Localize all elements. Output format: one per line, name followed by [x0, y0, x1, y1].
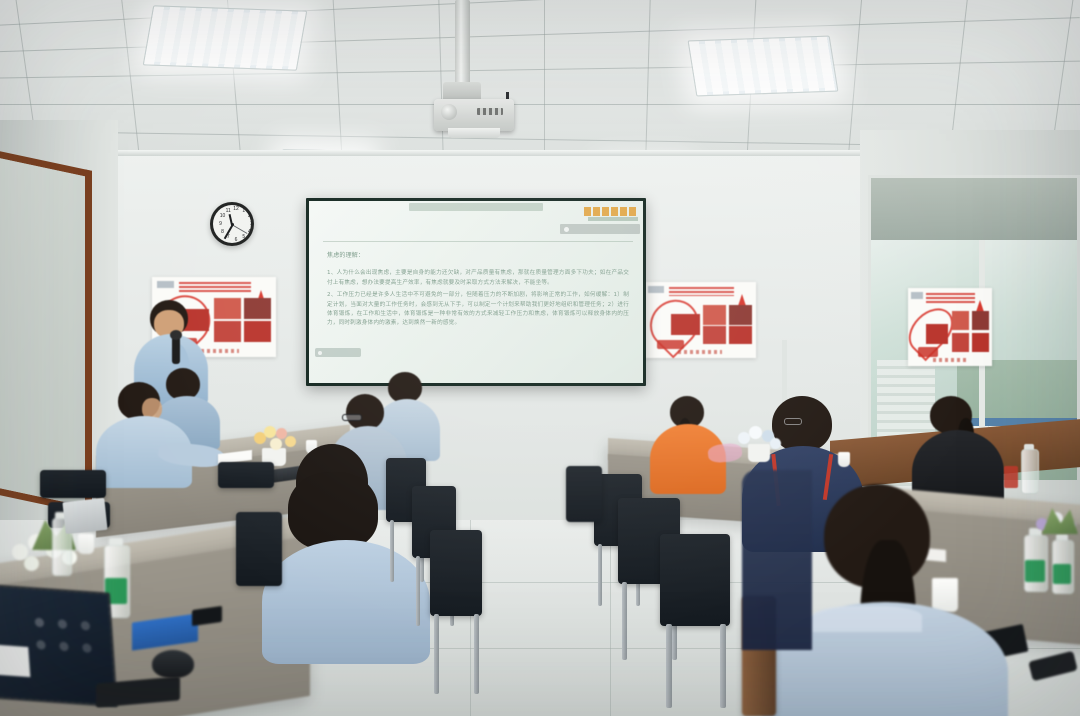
chair-backrest [430, 530, 482, 616]
collar [812, 606, 922, 632]
wireless-mouse[interactable] [152, 650, 194, 678]
bottle-label [1053, 564, 1071, 584]
water-bottle-right-rear [1020, 444, 1038, 492]
poster-photo [729, 326, 751, 344]
flower [24, 556, 39, 571]
chair-leg [474, 614, 479, 694]
flower [264, 426, 276, 438]
poster-headline [179, 282, 251, 292]
clock-numeral: 10 [219, 213, 227, 219]
chair-backrest [40, 470, 106, 498]
clock-center-pin [231, 223, 234, 226]
poster-photo [729, 305, 751, 325]
projection-screen-surface: 焦虑的理解： 1、人为什么会出现焦虑，主要是自身的能力还欠缺，对产品质量有焦虑，… [309, 201, 643, 383]
poster-logo [911, 292, 923, 299]
chair-leg [416, 556, 420, 626]
light-panel-back-right [688, 36, 839, 97]
poster-slogan [657, 340, 684, 349]
flowers-white-blue [736, 424, 782, 450]
projection-screen: 焦虑的理解： 1、人为什么会出现焦虑，主要是自身的能力还欠缺，对产品质量有焦虑，… [306, 198, 646, 386]
poster-photo [972, 311, 990, 330]
projector-front-foot [448, 128, 500, 138]
poster-footer [678, 350, 723, 354]
red-object-right [1004, 466, 1018, 488]
bottle-label [1025, 560, 1045, 582]
light-panel-back-left [143, 5, 308, 70]
flower-vase-right [1032, 508, 1080, 560]
flowers-pink-yellow [252, 424, 298, 452]
chair-leg [598, 544, 602, 606]
flower [749, 426, 762, 439]
poster-photo [703, 326, 725, 344]
poster-photo [244, 321, 271, 342]
poster-photo [703, 305, 725, 325]
laptop-dialog [0, 644, 30, 677]
slide-paragraph-2: 2、工作压力已经是许多人生活中不可避免的一部分，但随着压力的不断加剧，将影响正常… [327, 291, 629, 329]
clock-numeral: 5 [240, 234, 248, 240]
laptop-rear-silver[interactable] [62, 498, 107, 534]
window-left-wall [0, 149, 92, 515]
poster-photo [952, 333, 970, 352]
poster-logo [157, 281, 174, 288]
slide-divider [323, 241, 633, 242]
clock-numeral: 9 [217, 221, 225, 227]
poster-photo [952, 311, 970, 330]
slide-company-subtitle [588, 217, 638, 221]
poster-photo [671, 314, 700, 335]
slide-title: 焦虑的理解： [327, 251, 629, 260]
poster-headline [669, 287, 734, 297]
projector-ports [477, 108, 503, 115]
chair-leg [666, 624, 672, 708]
slide-toolbar-chip [560, 224, 640, 234]
chair-leg [720, 624, 726, 708]
slide-content: 焦虑的理解： 1、人为什么会出现焦虑，主要是自身的能力还欠缺，对产品质量有焦虑，… [327, 251, 629, 332]
chair-leg [390, 520, 394, 582]
poster-photo [214, 298, 241, 319]
wall-clock: 121234567891011 [210, 202, 254, 246]
ceiling-grid-line [0, 104, 1080, 105]
paper-cup [932, 578, 958, 612]
slide-top-banner [409, 203, 543, 211]
meeting-room-photo: 121234567891011 [0, 0, 1080, 716]
chair-leg [434, 614, 439, 694]
microphone-head [170, 330, 182, 340]
clock-numeral: 11 [224, 208, 232, 214]
flower [770, 438, 781, 449]
floor-tile-seam [610, 520, 611, 716]
poster-back-wall-right [644, 282, 756, 358]
projector-mount-pole [455, 0, 470, 86]
attendee-hair [288, 472, 378, 550]
chair-leg [622, 582, 627, 660]
clock-numeral: 6 [232, 237, 240, 243]
clock-numeral: 2 [245, 213, 253, 219]
laptop-desktop-icons [30, 611, 98, 676]
glasses-icon [784, 418, 802, 425]
slide-status-badge [315, 348, 361, 357]
attendee-torso [262, 540, 430, 664]
poster-on-window [908, 288, 992, 366]
glasses-icon [342, 414, 362, 421]
poster-slogan [918, 347, 938, 356]
chair-backrest [236, 512, 282, 586]
paper-cup-left [78, 534, 94, 554]
projector-lens-icon [441, 104, 457, 120]
poster-footer [933, 358, 967, 362]
poster-logo [648, 286, 664, 293]
paper-cup-right-rear [838, 452, 850, 467]
flower [270, 438, 282, 450]
slide-paragraph-1: 1、人为什么会出现焦虑，主要是自身的能力还欠缺，对产品质量有焦虑，那就在质量管理… [327, 269, 629, 288]
clock-numeral: 3 [248, 221, 256, 227]
poster-photo [214, 321, 241, 342]
poster-headline [926, 293, 975, 303]
poster-photo [972, 333, 990, 352]
bottle-body [1021, 449, 1039, 494]
chair-backrest [218, 462, 274, 488]
poster-photo [926, 324, 948, 344]
foreground-shadow [742, 470, 812, 650]
slide-company-logo [584, 207, 638, 216]
flower [285, 436, 296, 447]
chair-backrest [660, 534, 730, 626]
chair-backrest [566, 466, 602, 522]
attendee-head [346, 394, 384, 430]
poster-photo [244, 298, 271, 319]
window-right-blind[interactable] [871, 178, 1077, 240]
window-left-blind[interactable] [0, 156, 85, 506]
